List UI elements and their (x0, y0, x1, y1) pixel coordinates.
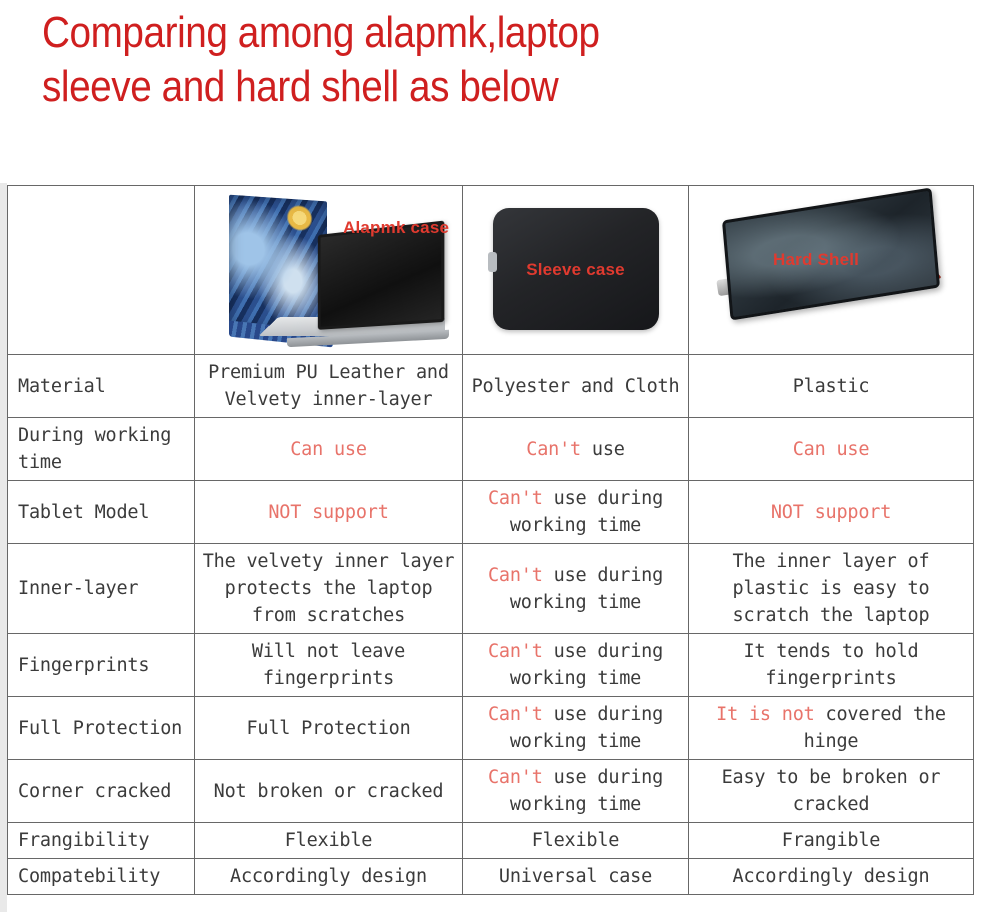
cell-hard-shell-row-5[interactable]: It is not covered the hinge (689, 697, 974, 760)
page-title: Comparing among alapmk,laptop sleeve and… (0, 0, 942, 114)
cell-sleeve-row-6[interactable]: Can't use during working time (463, 760, 689, 823)
page-title-line-1: Comparing among alapmk,laptop (42, 6, 834, 60)
table-row: MaterialPremium PU Leather and Velvety i… (8, 355, 974, 418)
header-cell-hard-shell: Hard Shell (689, 186, 974, 355)
cell-hard-shell-row-4[interactable]: It tends to hold fingerprints (689, 634, 974, 697)
table-row: During working timeCan useCan't useCan u… (8, 418, 974, 481)
red-text: NOT support (268, 502, 388, 523)
comparison-table-body: Alapmk case Sleeve case (8, 186, 974, 895)
cell-hard-shell-row-3[interactable]: The inner layer of plastic is easy to sc… (689, 544, 974, 634)
sleeve-product-image: Sleeve case (463, 186, 688, 354)
sleeve-zipper-icon (488, 252, 497, 272)
cell-alapmk-row-2[interactable]: NOT support (195, 481, 463, 544)
header-cell-alapmk: Alapmk case (195, 186, 463, 355)
cell-sleeve-row-3[interactable]: Can't use during working time (463, 544, 689, 634)
cell-hard-shell-row-7[interactable]: Frangible (689, 823, 974, 859)
row-label-material[interactable]: Material (8, 355, 195, 418)
red-text: NOT support (771, 502, 891, 523)
table-row: FrangibilityFlexibleFlexibleFrangible (8, 823, 974, 859)
cell-sleeve-row-2[interactable]: Can't use during working time (463, 481, 689, 544)
product-image-header-row: Alapmk case Sleeve case (8, 186, 974, 355)
cell-sleeve-row-1[interactable]: Can't use (463, 418, 689, 481)
cell-hard-shell-row-8[interactable]: Accordingly design (689, 859, 974, 895)
red-text: Can't (488, 767, 543, 788)
red-text: Can't (488, 565, 543, 586)
table-row: FingerprintsWill not leave fingerprintsC… (8, 634, 974, 697)
header-cell-empty (8, 186, 195, 355)
cell-hard-shell-row-2[interactable]: NOT support (689, 481, 974, 544)
cell-sleeve-row-8[interactable]: Universal case (463, 859, 689, 895)
red-text: Can use (793, 439, 870, 460)
cell-alapmk-row-7[interactable]: Flexible (195, 823, 463, 859)
hard-shell-caption: Hard Shell (773, 246, 859, 273)
alapmk-case-caption: Alapmk case (343, 214, 449, 241)
red-text: Can't (488, 488, 543, 509)
cell-alapmk-row-1[interactable]: Can use (195, 418, 463, 481)
row-label-inner-layer[interactable]: Inner-layer (8, 544, 195, 634)
red-text: Can't (488, 704, 543, 725)
cell-sleeve-row-4[interactable]: Can't use during working time (463, 634, 689, 697)
cell-alapmk-row-6[interactable]: Not broken or cracked (195, 760, 463, 823)
sleeve-case-caption: Sleeve case (526, 256, 625, 283)
spreadsheet-row-gutter (0, 183, 7, 912)
table-row: CompatebilityAccordingly designUniversal… (8, 859, 974, 895)
red-text: Can't (526, 439, 581, 460)
hard-shell-product-image: Hard Shell (689, 186, 973, 354)
cell-sleeve-row-5[interactable]: Can't use during working time (463, 697, 689, 760)
row-label-full-protection[interactable]: Full Protection (8, 697, 195, 760)
row-label-frangibility[interactable]: Frangibility (8, 823, 195, 859)
red-text: Can't (488, 641, 543, 662)
cell-hard-shell-row-6[interactable]: Easy to be broken or cracked (689, 760, 974, 823)
starry-night-case-lid-icon (229, 195, 327, 334)
row-label-corner-cracked[interactable]: Corner cracked (8, 760, 195, 823)
table-row: Tablet ModelNOT supportCan't use during … (8, 481, 974, 544)
row-label-tablet-model[interactable]: Tablet Model (8, 481, 195, 544)
table-row: Full ProtectionFull ProtectionCan't use … (8, 697, 974, 760)
cell-alapmk-row-4[interactable]: Will not leave fingerprints (195, 634, 463, 697)
row-label-during-working-time[interactable]: During working time (8, 418, 195, 481)
row-label-fingerprints[interactable]: Fingerprints (8, 634, 195, 697)
cell-hard-shell-row-0[interactable]: Plastic (689, 355, 974, 418)
cell-alapmk-row-3[interactable]: The velvety inner layer protects the lap… (195, 544, 463, 634)
header-cell-sleeve: Sleeve case (463, 186, 689, 355)
cell-hard-shell-row-1[interactable]: Can use (689, 418, 974, 481)
row-label-compatebility[interactable]: Compatebility (8, 859, 195, 895)
table-row: Inner-layerThe velvety inner layer prote… (8, 544, 974, 634)
red-text: It is not (716, 704, 814, 725)
comparison-table: Alapmk case Sleeve case (7, 185, 974, 895)
cell-alapmk-row-5[interactable]: Full Protection (195, 697, 463, 760)
cell-alapmk-row-8[interactable]: Accordingly design (195, 859, 463, 895)
cell-sleeve-row-7[interactable]: Flexible (463, 823, 689, 859)
cell-sleeve-row-0[interactable]: Polyester and Cloth (463, 355, 689, 418)
page-title-line-2: sleeve and hard shell as below (42, 60, 834, 114)
cell-alapmk-row-0[interactable]: Premium PU Leather and Velvety inner-lay… (195, 355, 463, 418)
alapmk-product-image: Alapmk case (195, 186, 462, 354)
red-text: Can use (290, 439, 367, 460)
table-row: Corner crackedNot broken or crackedCan't… (8, 760, 974, 823)
